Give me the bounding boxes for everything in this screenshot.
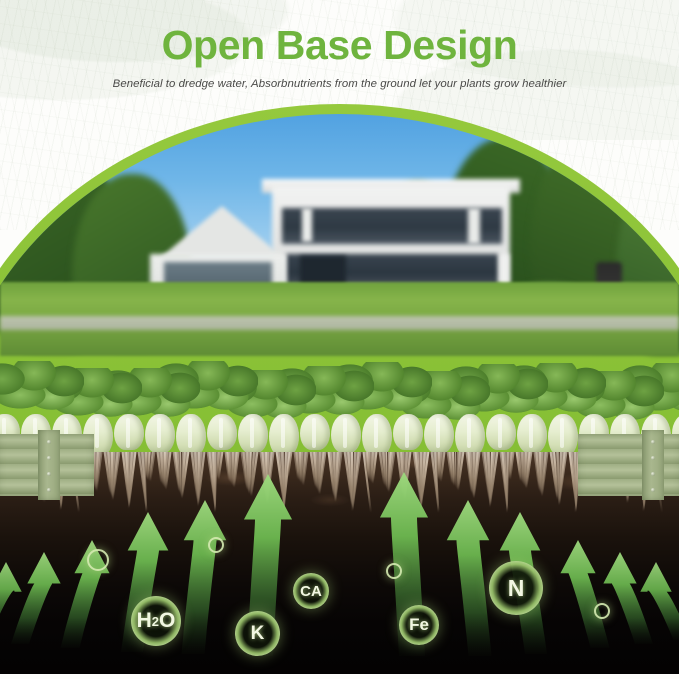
nutrient-bubble-fe: Fe — [399, 605, 439, 645]
product-infographic: Open Base Design Beneficial to dredge wa… — [0, 0, 679, 679]
bubble-empty — [386, 563, 402, 579]
nutrient-label: H — [137, 609, 152, 633]
nutrient-label: Fe — [409, 615, 429, 635]
nutrient-bubbles: H2OKCAFeN — [0, 0, 679, 679]
nutrient-label: CA — [300, 583, 322, 600]
nutrient-bubble-ho: H2O — [131, 596, 181, 646]
bubble-empty — [208, 537, 224, 553]
bubble-empty — [594, 603, 610, 619]
page-subtitle: Beneficial to dredge water, Absorbnutrie… — [0, 78, 679, 90]
nutrient-label-2: O — [159, 609, 175, 633]
nutrient-label: N — [508, 575, 525, 602]
nutrient-subscript: 2 — [152, 614, 159, 629]
bubble-empty — [87, 549, 109, 571]
nutrient-bubble-k: K — [235, 611, 280, 656]
header-block: Open Base Design Beneficial to dredge wa… — [0, 0, 679, 90]
nutrient-label: K — [251, 623, 265, 645]
nutrient-bubble-ca: CA — [293, 573, 329, 609]
page-title: Open Base Design — [0, 23, 679, 68]
nutrient-bubble-n: N — [489, 561, 543, 615]
